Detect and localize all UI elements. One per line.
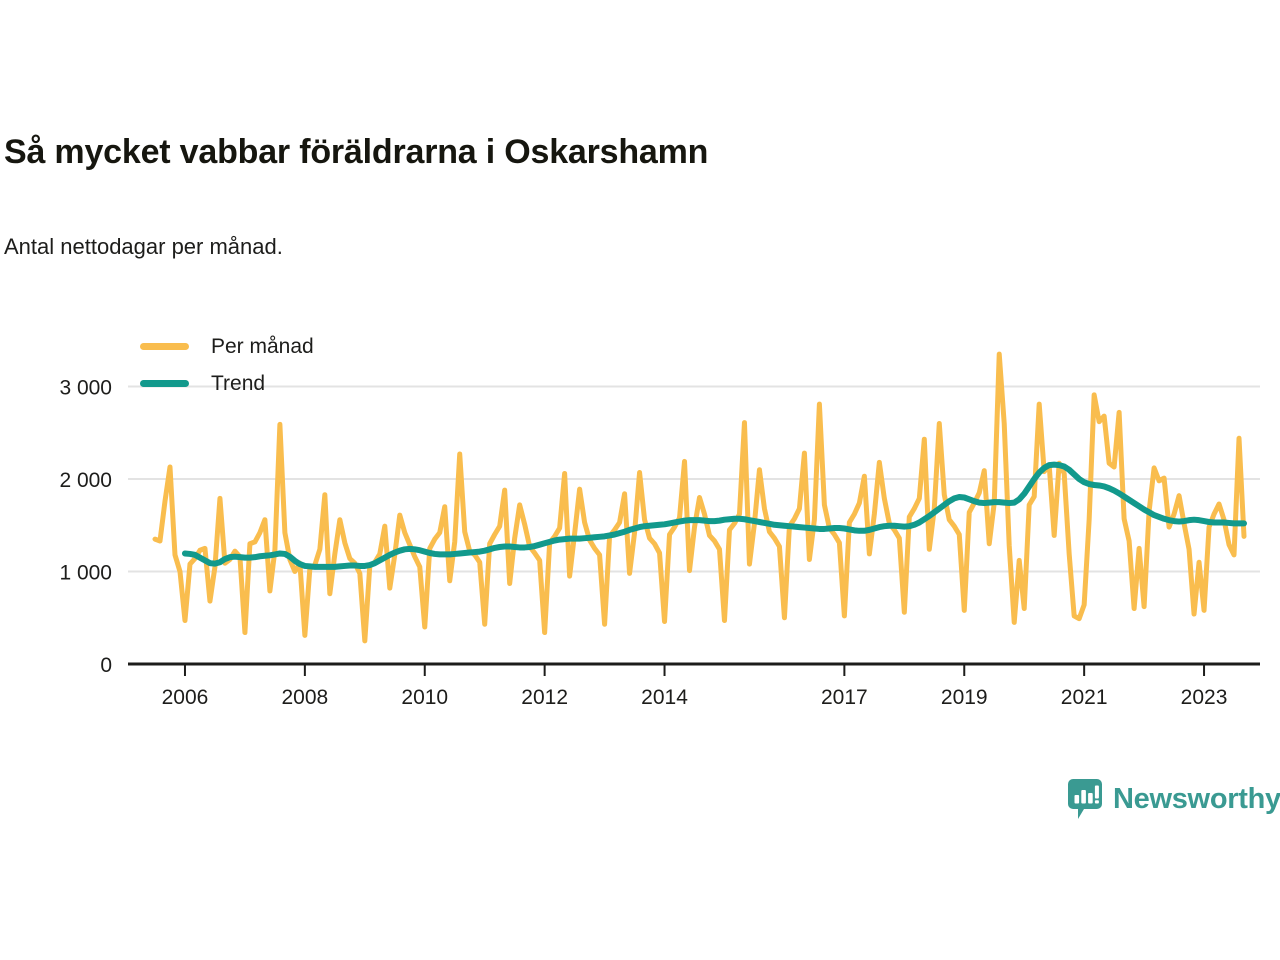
x-axis-tick-label: 2023: [1181, 686, 1228, 709]
legend-item-per-manad[interactable]: Per månad: [140, 328, 470, 365]
chart-legend: Per månad Trend: [140, 328, 470, 402]
legend-swatch-per-manad: [140, 343, 189, 350]
legend-label-trend: Trend: [211, 373, 265, 394]
y-axis-tick-label: 2 000: [59, 469, 112, 492]
x-axis-tick-label: 2010: [401, 686, 448, 709]
x-axis-tick-label: 2019: [941, 686, 988, 709]
y-axis-tick-label: 1 000: [59, 562, 112, 585]
page-title: Så mycket vabbar föräldrarna i Oskarsham…: [4, 133, 708, 172]
chart-container: 01 0002 0003 000200620082010201220142017…: [0, 300, 1280, 720]
y-axis-tick-label: 3 000: [59, 377, 112, 400]
x-axis-tick-label: 2008: [282, 686, 329, 709]
chart-page: Så mycket vabbar föräldrarna i Oskarsham…: [0, 0, 1280, 960]
x-axis-tick-label: 2006: [162, 686, 209, 709]
x-axis-tick-label: 2012: [521, 686, 568, 709]
x-axis-tick-label: 2014: [641, 686, 688, 709]
y-axis-tick-label: 0: [100, 654, 112, 677]
newsworthy-bubble-chart-logo-icon: [1068, 779, 1102, 819]
newsworthy-wordmark: Newsworthy: [1113, 785, 1280, 814]
legend-swatch-trend: [140, 380, 189, 387]
newsworthy-logo[interactable]: Newsworthy: [1068, 779, 1280, 819]
x-axis-tick-label: 2021: [1061, 686, 1108, 709]
x-axis-tick-label: 2017: [821, 686, 868, 709]
legend-label-per-manad: Per månad: [211, 336, 314, 357]
legend-item-trend[interactable]: Trend: [140, 365, 470, 402]
page-subtitle: Antal nettodagar per månad.: [4, 234, 283, 260]
